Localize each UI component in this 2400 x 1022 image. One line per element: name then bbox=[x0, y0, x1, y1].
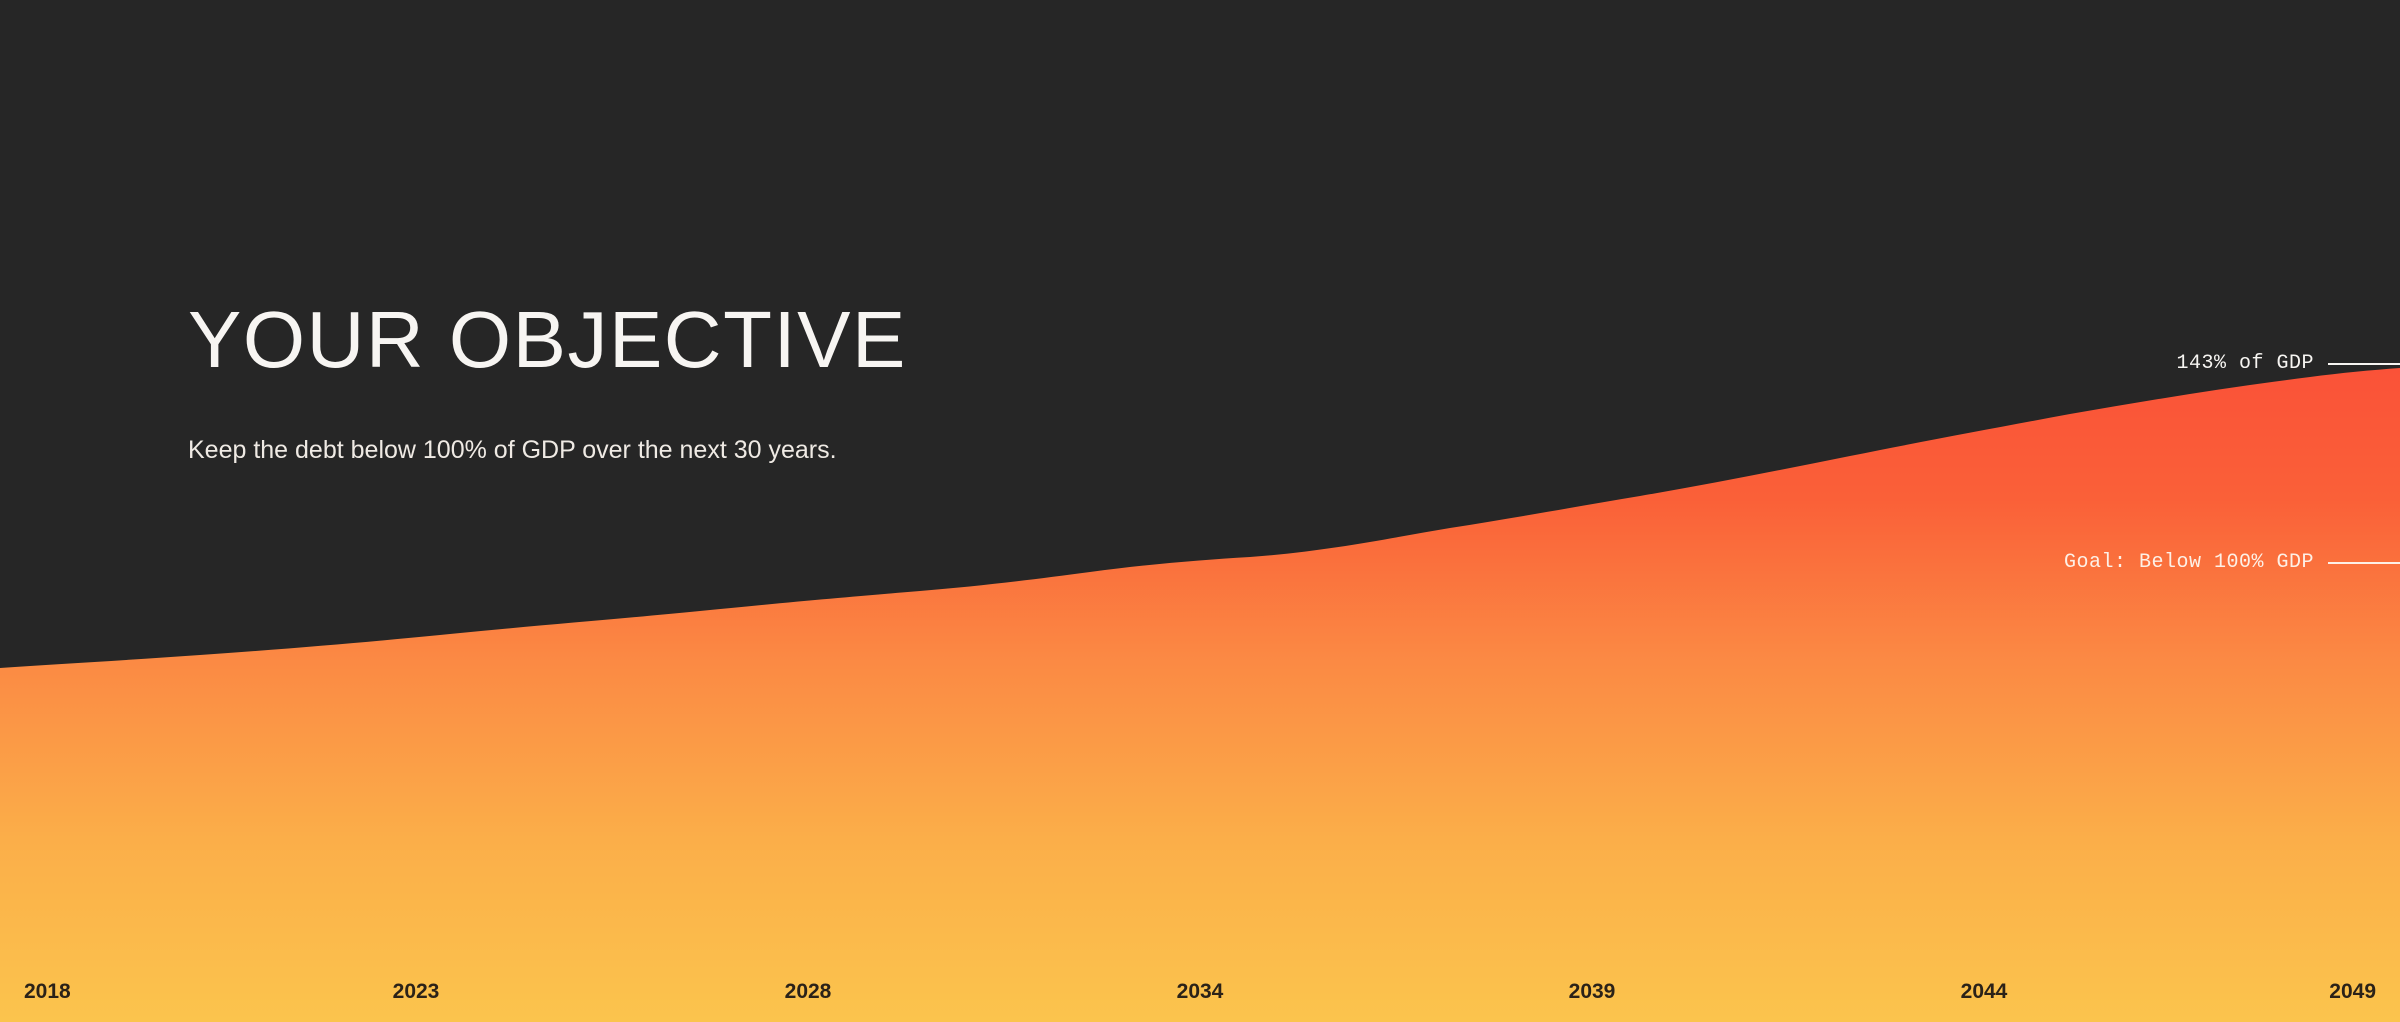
annotation-goal: Goal: Below 100% GDP bbox=[2064, 551, 2400, 574]
page-title: YOUR OBJECTIVE bbox=[188, 300, 907, 380]
annotation-peak-leader-line bbox=[2328, 363, 2400, 365]
x-axis-tick: 2039 bbox=[1569, 980, 1616, 1004]
x-axis-tick: 2028 bbox=[785, 980, 832, 1004]
debt-area-chart bbox=[0, 0, 2400, 1022]
x-axis: 2018202320282034203920442049 bbox=[0, 980, 2400, 1022]
annotation-goal-leader-line bbox=[2328, 562, 2400, 564]
headline-block: YOUR OBJECTIVE Keep the debt below 100% … bbox=[188, 300, 907, 467]
x-axis-tick: 2044 bbox=[1961, 980, 2008, 1004]
x-axis-tick: 2018 bbox=[24, 980, 71, 1004]
x-axis-tick: 2034 bbox=[1177, 980, 1224, 1004]
annotation-peak-label: 143% of GDP bbox=[2176, 352, 2314, 375]
annotation-peak-value: 143% of GDP bbox=[2176, 352, 2400, 375]
page-subtitle: Keep the debt below 100% of GDP over the… bbox=[188, 380, 907, 467]
chart-canvas: YOUR OBJECTIVE Keep the debt below 100% … bbox=[0, 0, 2400, 1022]
x-axis-tick: 2049 bbox=[2329, 980, 2376, 1004]
annotation-goal-label: Goal: Below 100% GDP bbox=[2064, 551, 2314, 574]
x-axis-tick: 2023 bbox=[393, 980, 440, 1004]
